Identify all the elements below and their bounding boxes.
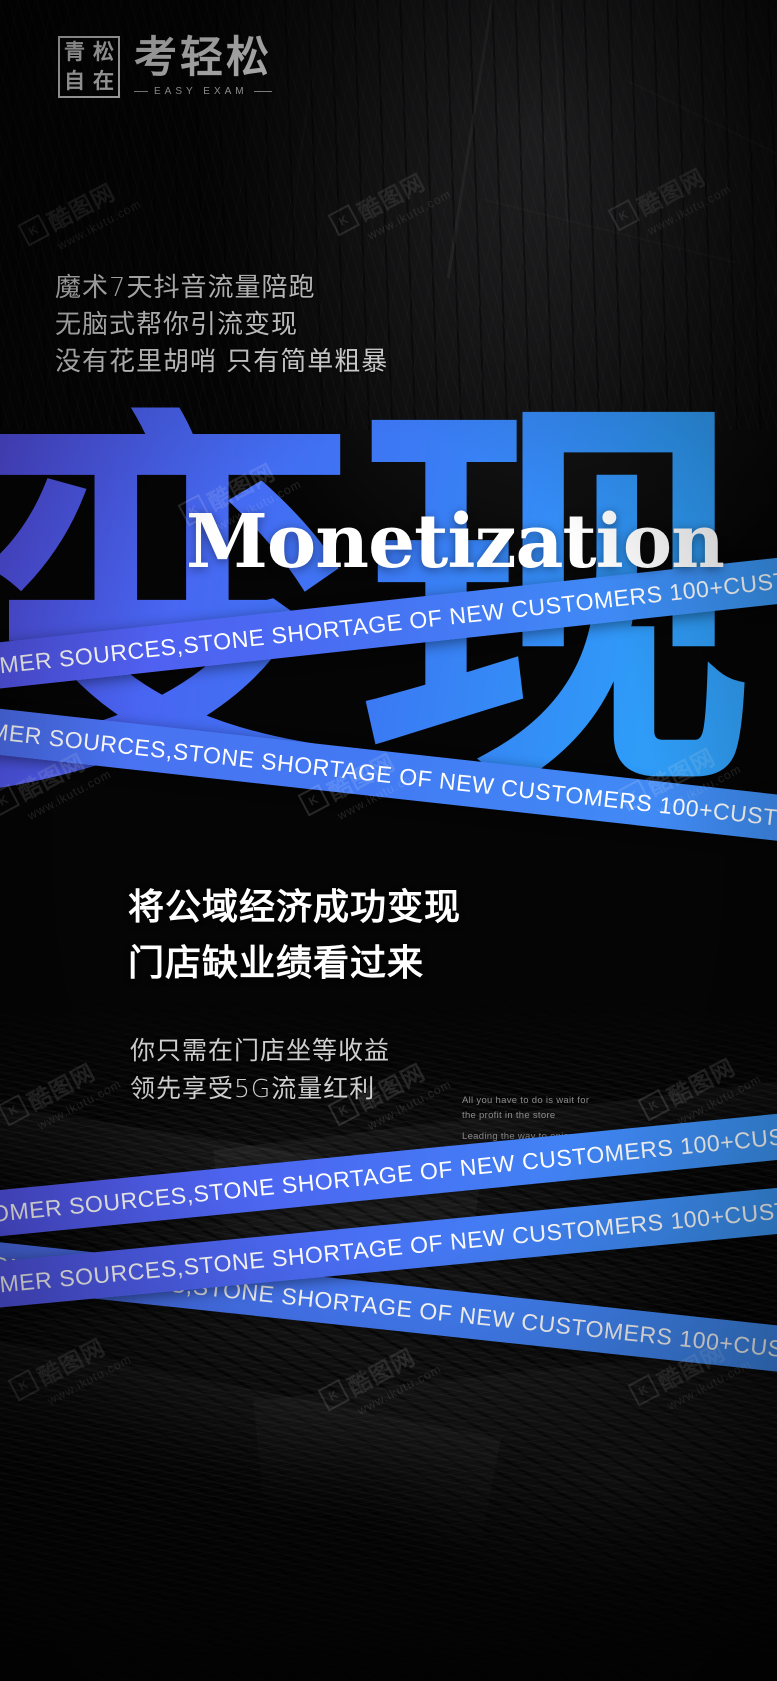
english-caption-gap (462, 1123, 589, 1130)
english-caption-line-2: the profit in the store (462, 1109, 589, 1124)
logo-badge: 青 松 自 在 (58, 36, 120, 98)
logo-subtitle: EASY EXAM (134, 86, 272, 97)
english-caption-line-1: All you have to do is wait for (462, 1094, 589, 1109)
logo-wordmark: 考轻松 EASY EXAM (134, 37, 272, 97)
logo-badge-char-1: 青 (60, 38, 89, 67)
logo-sub-text: EASY EXAM (154, 86, 248, 97)
subline-line-1: 你只需在门店坐等收益 (130, 1032, 390, 1070)
brand-logo: 青 松 自 在 考轻松 EASY EXAM (58, 36, 272, 98)
logo-badge-char-3: 自 (60, 67, 89, 96)
logo-badge-char-4: 在 (89, 67, 118, 96)
logo-main-text: 考轻松 (134, 37, 272, 80)
poster-canvas: 青 松 自 在 考轻松 EASY EXAM 魔术7天抖音流量陪跑 无脑式帮你引流… (0, 0, 777, 1681)
logo-rule-left (134, 91, 148, 92)
headline-line-1: 将公域经济成功变现 (128, 880, 461, 936)
intro-line-2: 无脑式帮你引流变现 (55, 307, 388, 344)
subline-block: 你只需在门店坐等收益 领先享受5G流量红利 (130, 1032, 390, 1107)
logo-rule-right (254, 91, 272, 92)
headline-block: 将公域经济成功变现 门店缺业绩看过来 (128, 880, 461, 992)
headline-line-2: 门店缺业绩看过来 (128, 936, 461, 992)
logo-badge-char-2: 松 (89, 38, 118, 67)
subline-line-2: 领先享受5G流量红利 (130, 1070, 390, 1108)
hero-english-overlay: Monetization (186, 505, 724, 579)
intro-line-1: 魔术7天抖音流量陪跑 (55, 270, 388, 307)
